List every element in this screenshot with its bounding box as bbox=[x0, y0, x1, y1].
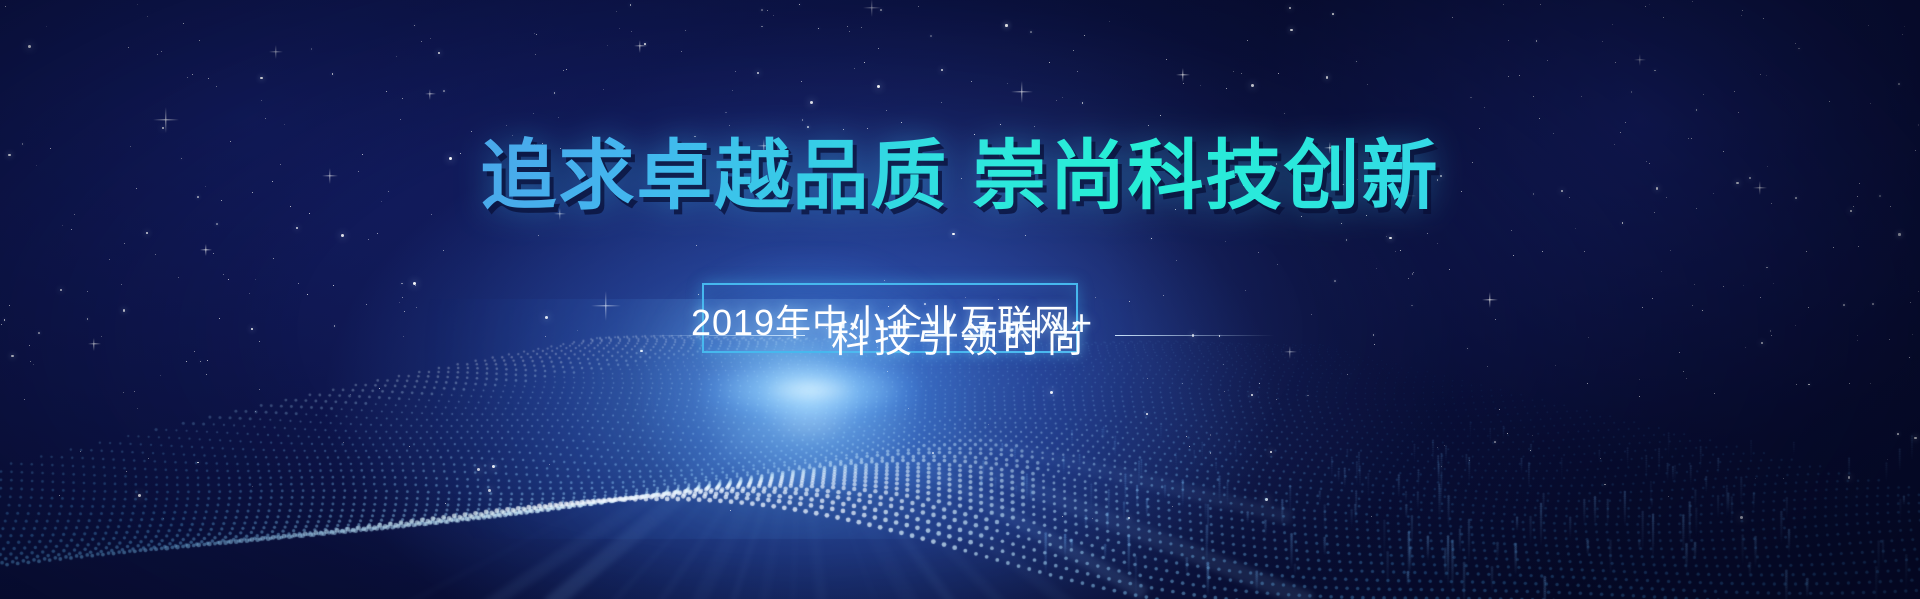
tagline-rule-left bbox=[645, 335, 805, 336]
tagline-row: 科技引领时尚 bbox=[0, 305, 1920, 365]
headline-text: 追求卓越品质 崇尚科技创新 bbox=[480, 134, 1439, 219]
headline: 追求卓越品质 崇尚科技创新 bbox=[0, 139, 1920, 215]
tagline-text: 科技引领时尚 bbox=[831, 308, 1089, 363]
banner-content: 追求卓越品质 崇尚科技创新 2019年中小企业互联网+ 科技引领时尚 bbox=[0, 0, 1920, 599]
promo-banner: 追求卓越品质 崇尚科技创新 2019年中小企业互联网+ 科技引领时尚 bbox=[0, 0, 1920, 599]
tagline-rule-right bbox=[1115, 335, 1275, 336]
